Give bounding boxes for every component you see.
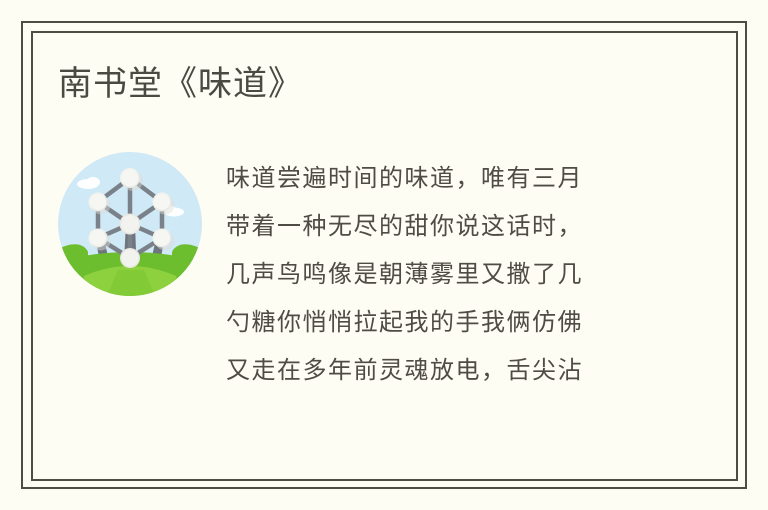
atomium-icon — [58, 152, 202, 296]
page-title: 南书堂《味道》 — [58, 62, 303, 106]
poem-line: 味道尝遍时间的味道，唯有三月 — [226, 154, 658, 202]
atomium-illustration — [58, 152, 202, 296]
poem-line: 勺糖你悄悄拉起我的手我俩仿佛 — [226, 298, 658, 346]
article-card: 南书堂《味道》 — [0, 0, 768, 510]
article-content-row: 味道尝遍时间的味道，唯有三月 带着一种无尽的甜你说这话时， 几声鸟鸣像是朝薄雾里… — [58, 150, 658, 394]
poem-line: 又走在多年前灵魂放电，舌尖沾 — [226, 346, 658, 394]
poem-text: 味道尝遍时间的味道，唯有三月 带着一种无尽的甜你说这话时， 几声鸟鸣像是朝薄雾里… — [226, 154, 658, 394]
poem-line: 带着一种无尽的甜你说这话时， — [226, 202, 658, 250]
poem-line: 几声鸟鸣像是朝薄雾里又撒了几 — [226, 250, 658, 298]
